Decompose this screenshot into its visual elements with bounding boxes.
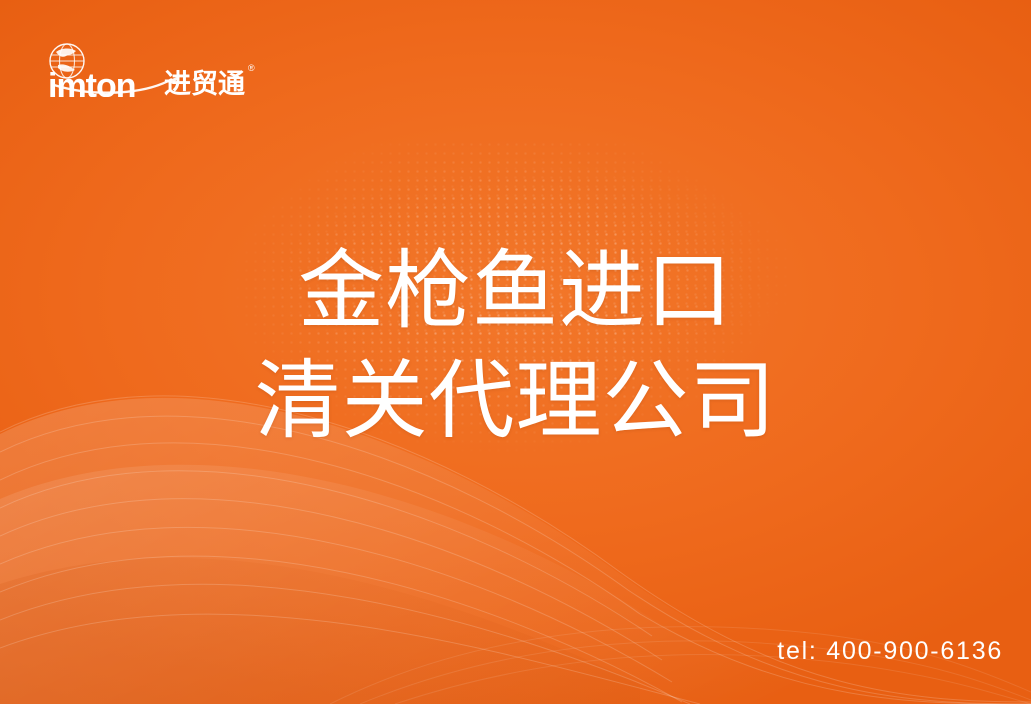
headline: 金枪鱼进口 清关代理公司 <box>0 236 1031 456</box>
contact-phone: tel: 400-900-6136 <box>777 637 1003 666</box>
logo-artwork: imton 进贸通 ® <box>40 35 270 97</box>
registered-mark: ® <box>248 63 255 73</box>
promo-banner: imton 进贸通 ® 金枪鱼进口 清关代理公司 tel: 400-900-61… <box>0 0 1031 704</box>
logo-chinese-name: 进贸通 <box>164 69 245 97</box>
headline-line-2: 清关代理公司 <box>0 346 1031 456</box>
headline-line-1: 金枪鱼进口 <box>0 236 1031 346</box>
brand-logo: imton 进贸通 ® <box>40 35 270 97</box>
svg-text:进贸通: 进贸通 <box>164 69 245 97</box>
